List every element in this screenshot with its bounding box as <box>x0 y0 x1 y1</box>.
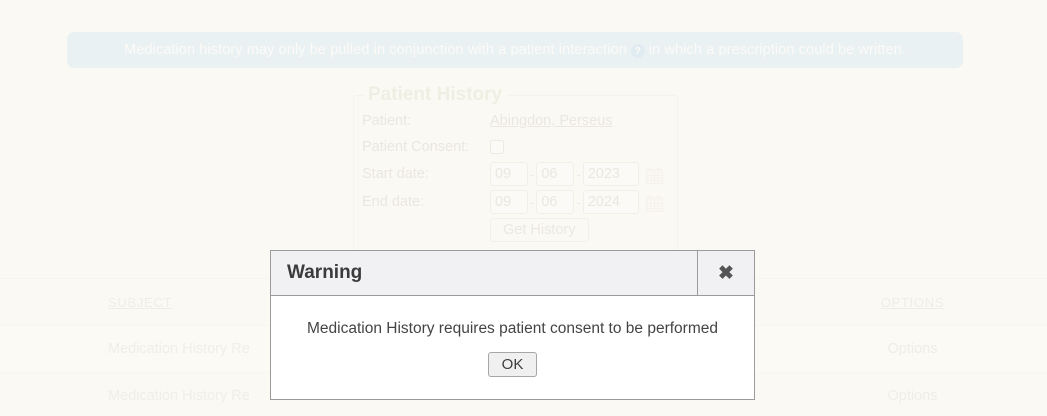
options-link[interactable]: Options <box>888 388 938 404</box>
column-header-date[interactable]: DATE <box>0 279 108 326</box>
patient-name-link[interactable]: Abingdon, Perseus <box>490 113 613 129</box>
patient-consent-checkbox[interactable] <box>490 140 504 154</box>
end-date-day-input[interactable] <box>536 190 574 214</box>
banner-text-after: in which a prescription could be written… <box>649 42 906 58</box>
ok-button[interactable]: OK <box>488 352 538 377</box>
column-header-options[interactable]: OPTIONS <box>778 279 1047 326</box>
patient-history-panel: Patient History Patient: Abingdon, Perse… <box>353 84 678 251</box>
patient-consent-cell <box>490 134 669 160</box>
help-circle-icon[interactable]: ? <box>631 44 645 58</box>
patient-label: Patient: <box>362 108 490 134</box>
cell-date <box>0 373 108 416</box>
medication-history-info-banner: Medication history may only be pulled in… <box>67 32 963 68</box>
calendar-icon[interactable] <box>646 167 663 184</box>
calendar-icon[interactable] <box>646 195 663 212</box>
close-icon[interactable]: ✖ <box>697 251 754 295</box>
submit-cell: Get History <box>490 216 669 244</box>
end-date-sep-2: - <box>574 195 582 210</box>
start-date-sep-1: - <box>528 167 536 182</box>
patient-history-form: Patient: Abingdon, Perseus Patient Conse… <box>362 108 669 244</box>
start-date-sep-2: - <box>574 167 582 182</box>
end-date-row: End date: - - <box>362 188 669 216</box>
patient-consent-label: Patient Consent: <box>362 134 490 160</box>
warning-dialog-body: Medication History requires patient cons… <box>271 296 754 399</box>
end-date-month-input[interactable] <box>490 190 528 214</box>
end-date-cell: - - <box>490 188 669 216</box>
get-history-button[interactable]: Get History <box>490 218 589 242</box>
patient-consent-row: Patient Consent: <box>362 134 669 160</box>
warning-dialog-title: Warning <box>271 251 697 295</box>
cell-options: Options <box>778 373 1047 416</box>
submit-spacer <box>362 216 490 244</box>
end-date-sep-1: - <box>528 195 536 210</box>
patient-value-cell: Abingdon, Perseus <box>490 108 669 134</box>
start-date-row: Start date: - - <box>362 160 669 188</box>
start-date-month-input[interactable] <box>490 162 528 186</box>
end-date-label: End date: <box>362 188 490 216</box>
warning-dialog-header: Warning ✖ <box>271 251 754 296</box>
start-date-year-input[interactable] <box>583 162 639 186</box>
options-link[interactable]: Options <box>888 341 938 357</box>
end-date-year-input[interactable] <box>583 190 639 214</box>
banner-text-before: Medication history may only be pulled in… <box>124 42 627 58</box>
start-date-day-input[interactable] <box>536 162 574 186</box>
column-header-date-label: DATE <box>0 295 1 310</box>
cell-date <box>0 326 108 373</box>
start-date-cell: - - <box>490 160 669 188</box>
submit-row: Get History <box>362 216 669 244</box>
warning-dialog-message: Medication History requires patient cons… <box>291 320 734 338</box>
warning-dialog: Warning ✖ Medication History requires pa… <box>270 250 755 400</box>
start-date-label: Start date: <box>362 160 490 188</box>
cell-options: Options <box>778 326 1047 373</box>
patient-row: Patient: Abingdon, Perseus <box>362 108 669 134</box>
patient-history-legend: Patient History <box>364 84 508 106</box>
